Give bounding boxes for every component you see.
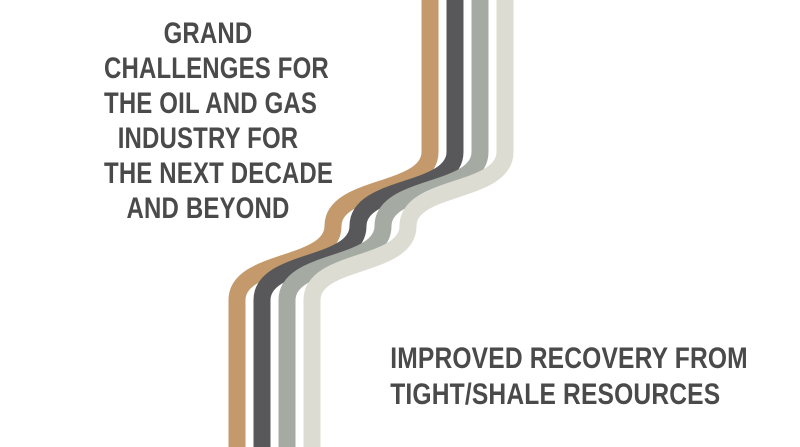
subline-line-2: TIGHT/SHALE RESOURCES <box>390 377 684 413</box>
poster-canvas: GRAND CHALLENGES FOR THE OIL AND GAS IND… <box>0 0 800 447</box>
headline-line-6: AND BEYOND <box>104 191 312 226</box>
headline-line-5: THE NEXT DECADE <box>104 156 312 191</box>
subline-line-1: IMPROVED RECOVERY FROM <box>390 341 684 377</box>
grand-challenges-headline: GRAND CHALLENGES FOR THE OIL AND GAS IND… <box>78 16 338 226</box>
headline-line-1: GRAND <box>104 16 312 51</box>
headline-line-3: THE OIL AND GAS <box>104 86 312 121</box>
headline-line-4: INDUSTRY FOR <box>104 121 312 156</box>
headline-line-2: CHALLENGES FOR <box>104 51 312 86</box>
improved-recovery-caption: IMPROVED RECOVERY FROM TIGHT/SHALE RESOU… <box>358 341 716 413</box>
